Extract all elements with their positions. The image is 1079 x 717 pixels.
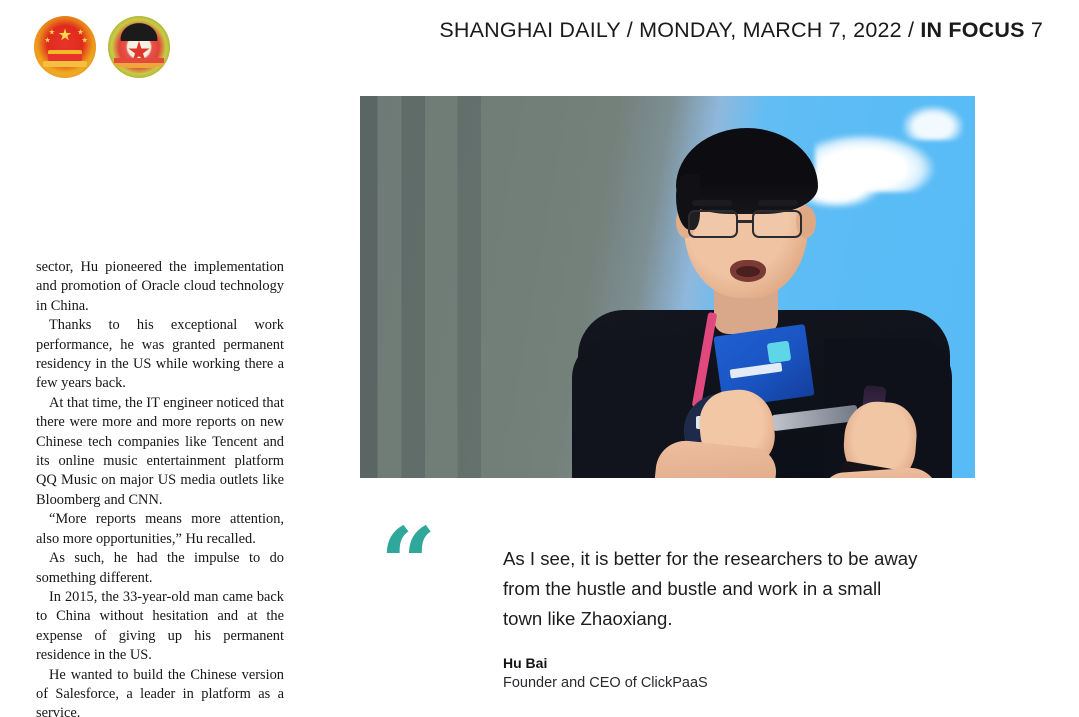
national-emblem-of-china-icon xyxy=(34,16,96,78)
pull-quote-text: As I see, it is better for the researche… xyxy=(503,544,923,634)
subject-glasses-right-lens xyxy=(752,210,802,238)
article-paragraph: As such, he had the impulse to do someth… xyxy=(36,549,284,588)
quote-author-name: Hu Bai xyxy=(503,654,923,673)
subject-eyebrow-left xyxy=(692,200,732,206)
cppcc-emblem-icon xyxy=(108,16,170,78)
article-paragraph: He wanted to build the Chinese version o… xyxy=(36,666,284,717)
emblem-star-large xyxy=(59,28,72,41)
article-paragraph: At that time, the IT engineer noticed th… xyxy=(36,394,284,510)
subject-mouth-inner xyxy=(736,266,760,277)
masthead-prefix: SHANGHAI DAILY / MONDAY, MARCH 7, 2022 / xyxy=(439,18,920,42)
photo-subject-speaker xyxy=(572,114,952,478)
article-paragraph: sector, Hu pioneered the implementation … xyxy=(36,258,284,316)
pull-quote-attribution: Hu Bai Founder and CEO of ClickPaaS xyxy=(503,654,923,693)
emblem-star-small xyxy=(82,37,88,43)
article-paragraph: In 2015, the 33-year-old man came back t… xyxy=(36,588,284,666)
subject-glasses-bridge xyxy=(738,220,752,223)
page-number: 7 xyxy=(1031,18,1043,42)
emblem-cogwheel xyxy=(117,20,162,41)
quote-author-role: Founder and CEO of ClickPaaS xyxy=(503,673,923,693)
emblem-tiananmen-gate xyxy=(48,50,83,61)
article-body-column: sector, Hu pioneered the implementation … xyxy=(36,258,284,717)
quote-mark-icon: “ xyxy=(380,533,433,597)
article-paragraph: Thanks to his exceptional work performan… xyxy=(36,316,284,394)
article-photo xyxy=(360,96,975,478)
emblem-star-small xyxy=(77,29,83,35)
emblem-star-small xyxy=(45,37,51,43)
emblem-base xyxy=(43,61,86,67)
subject-eyebrow-right xyxy=(758,200,798,206)
masthead-section: IN FOCUS xyxy=(920,18,1024,42)
emblem-ribbon xyxy=(114,58,164,68)
pull-quote-content: As I see, it is better for the researche… xyxy=(503,544,923,693)
microphone-flag-logo xyxy=(767,341,792,364)
masthead-headline: SHANGHAI DAILY / MONDAY, MARCH 7, 2022 /… xyxy=(439,18,1043,43)
masthead: SHANGHAI DAILY / MONDAY, MARCH 7, 2022 /… xyxy=(0,0,1079,96)
article-paragraph: “More reports means more attention, also… xyxy=(36,510,284,549)
emblem-star-small xyxy=(49,29,55,35)
subject-glasses-left-lens xyxy=(688,210,738,238)
emblem-group xyxy=(34,16,170,78)
